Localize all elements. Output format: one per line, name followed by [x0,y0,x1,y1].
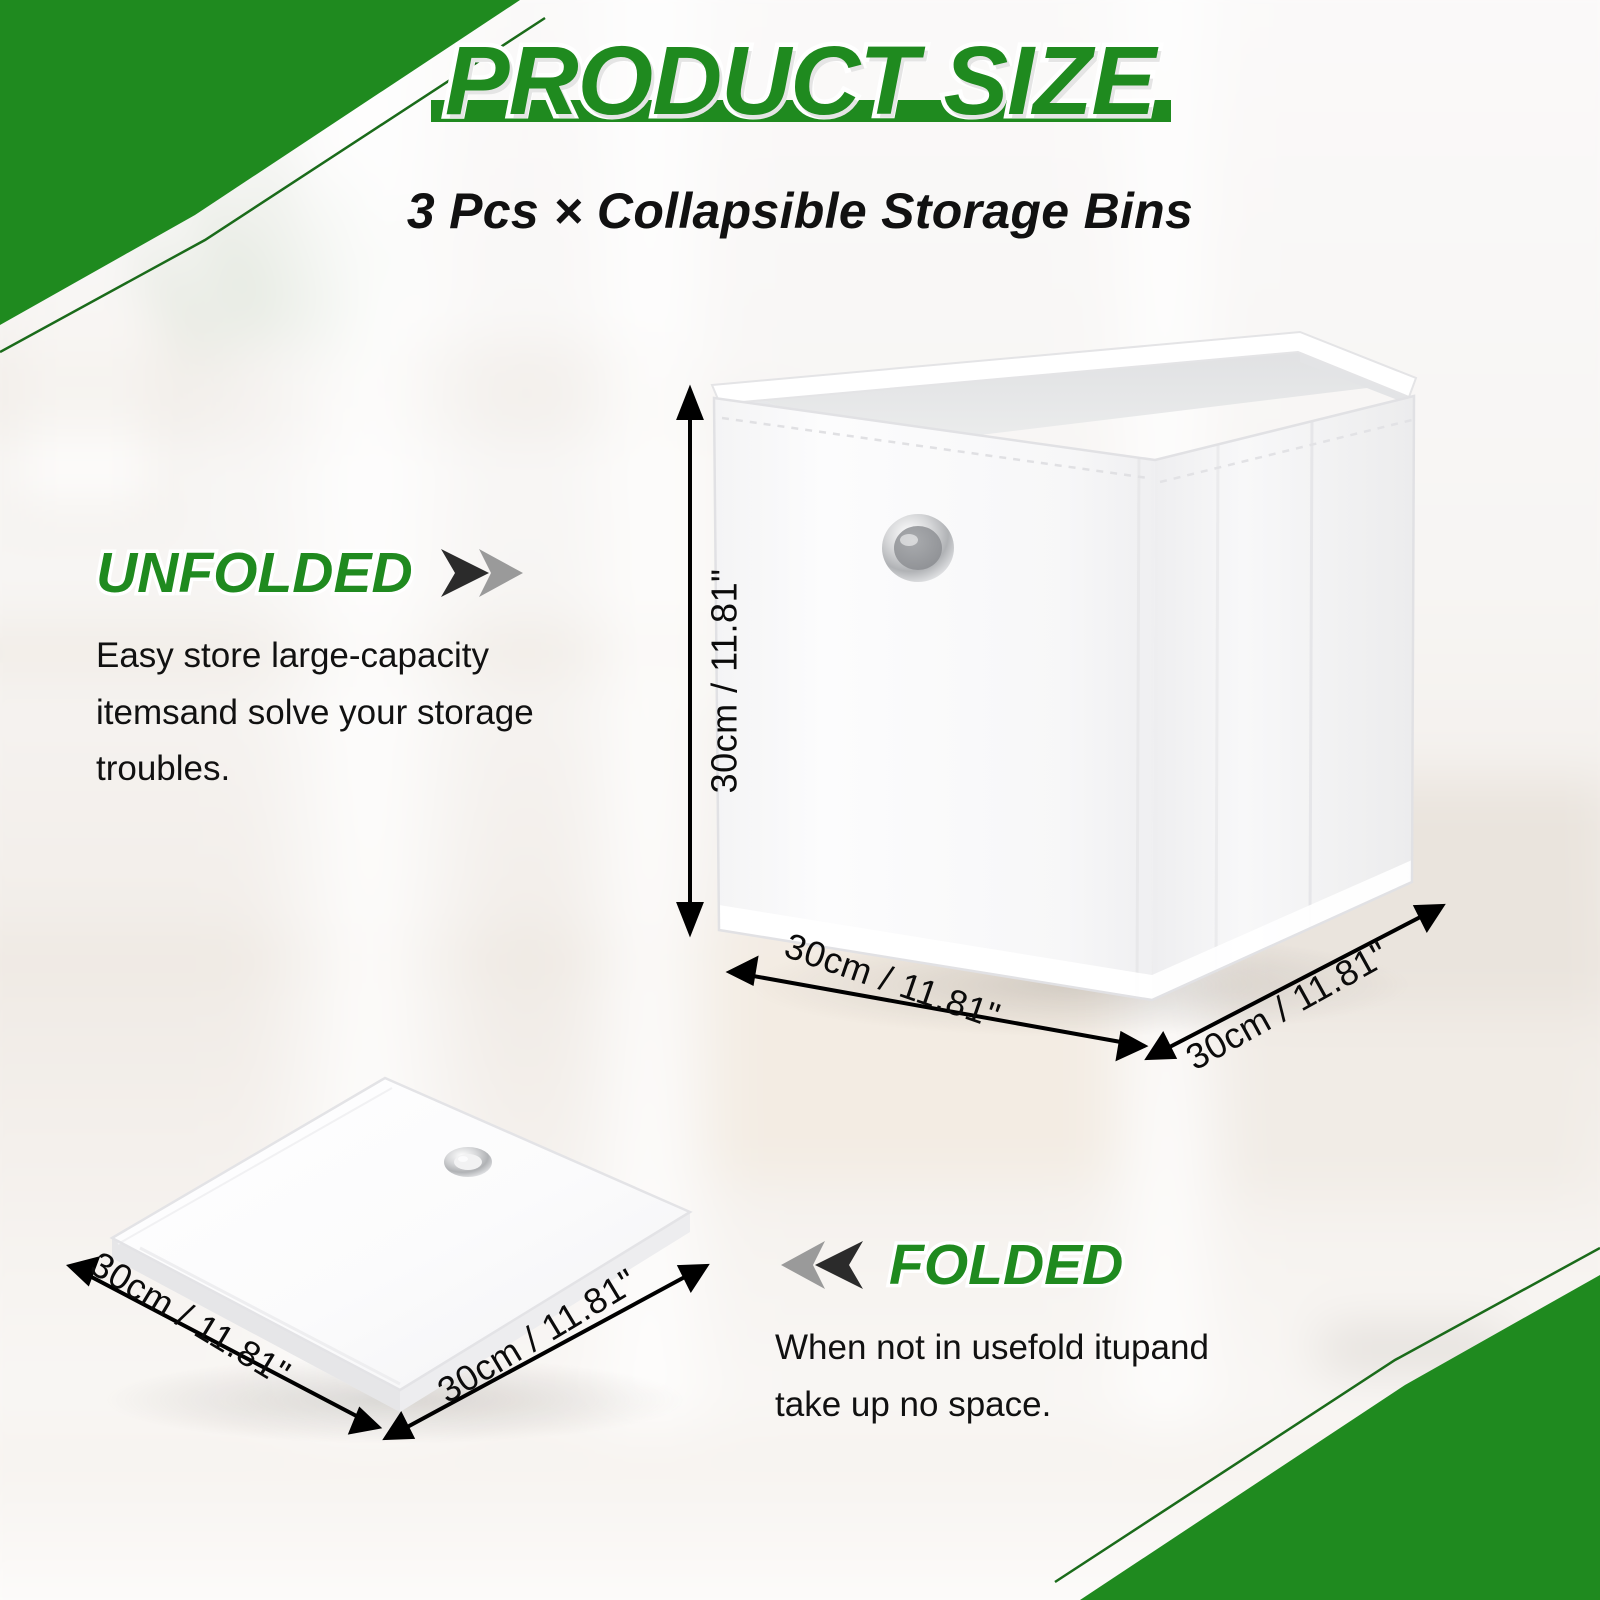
page-title: PRODUCT SIZE [445,30,1155,132]
section-folded: FOLDED When not in usefold itupand take … [775,1232,1275,1433]
section-unfolded-header: UNFOLDED [96,540,596,606]
section-unfolded: UNFOLDED Easy store large-capacity items… [96,540,596,798]
background-furniture-right [1190,780,1600,1010]
double-chevron-left-icon [775,1238,871,1292]
background-warm-surface [700,920,1120,1180]
page-subtitle: 3 Pcs × Collapsible Storage Bins [0,182,1600,240]
header: PRODUCT SIZE [0,30,1600,132]
section-unfolded-body: Easy store large-capacity itemsand solve… [96,628,596,798]
section-folded-header: FOLDED [775,1232,1275,1298]
section-folded-body: When not in usefold itupand take up no s… [775,1320,1275,1433]
section-folded-label: FOLDED [889,1232,1123,1298]
double-chevron-right-icon [433,546,529,600]
page-title-bar: PRODUCT SIZE [445,30,1155,132]
section-unfolded-label: UNFOLDED [96,540,413,606]
dimension-label-unfolded-height: 30cm / 11.81" [703,569,745,794]
product-size-infographic: PRODUCT SIZE 3 Pcs × Collapsible Storage… [0,0,1600,1600]
